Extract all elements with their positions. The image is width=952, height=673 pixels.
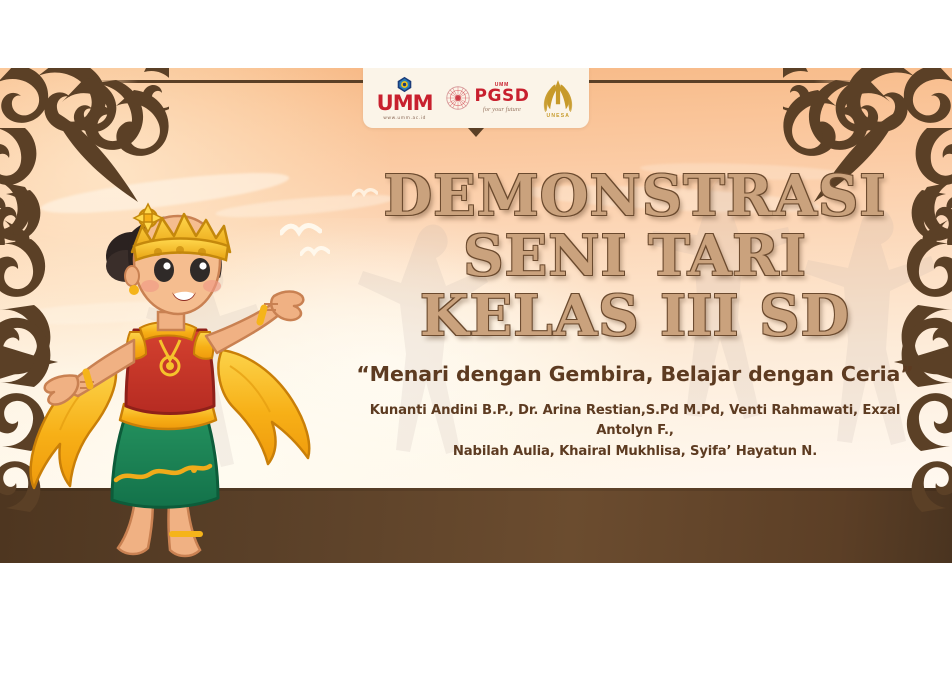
- poster-subtitle: “Menari dengan Gembira, Belajar dengan C…: [355, 362, 915, 386]
- pgsd-tagline: for your future: [483, 106, 521, 113]
- cloud-wisp: [39, 165, 290, 221]
- bird-icon: [280, 220, 322, 240]
- title-line-2: SENI TARI: [355, 228, 915, 284]
- batik-side-scroll-left-icon: [0, 188, 58, 518]
- unesa-wings-icon: [541, 78, 575, 112]
- bird-icon: [300, 244, 330, 259]
- sun-glow: [0, 68, 390, 368]
- hair: [106, 216, 222, 282]
- sash-left: [31, 368, 116, 488]
- poster-root: UMM www.umm.ac.id UMM P: [0, 0, 952, 673]
- umm-shield-icon: [396, 76, 413, 93]
- pgsd-emblem-icon: [445, 85, 471, 111]
- title-line-3-prefix: KELAS: [420, 283, 660, 349]
- arm-right: [206, 292, 303, 354]
- title-roman-numeral: III: [660, 283, 739, 349]
- stage-floor: [0, 488, 952, 563]
- logo-unesa: UNESA: [541, 78, 575, 119]
- logo-plate: UMM www.umm.ac.id UMM P: [363, 68, 589, 128]
- umm-wordmark: UMM: [377, 93, 433, 114]
- arm-left: [45, 340, 134, 405]
- poster-banner: UMM www.umm.ac.id UMM P: [0, 68, 952, 563]
- poster-text-block: DEMONSTRASI SENI TARI KELAS III SD “Mena…: [355, 168, 915, 462]
- waist-sash: [120, 404, 216, 429]
- hair-flower-icon: [134, 204, 162, 232]
- cloud-wisp: [10, 298, 201, 328]
- gold-crown: [132, 204, 230, 260]
- logo-pgsd: UMM PGSD for your future: [445, 83, 530, 113]
- logo-umm: UMM www.umm.ac.id: [377, 76, 433, 121]
- face: [125, 216, 221, 314]
- umm-url: www.umm.ac.id: [383, 116, 426, 121]
- title-line-3-suffix: SD: [739, 283, 851, 349]
- title-line-3: KELAS III SD: [355, 288, 915, 344]
- torso-top: [126, 322, 214, 414]
- pgsd-wordmark: PGSD: [475, 88, 530, 105]
- batik-corner-flourish-top-left-icon: [0, 68, 169, 245]
- unesa-wordmark: UNESA: [547, 113, 571, 119]
- authors-line-2: Nabilah Aulia, Khairal Mukhlisa, Syifa’ …: [355, 442, 915, 462]
- authors-line-1: Kunanti Andini B.P., Dr. Arina Restian,S…: [355, 401, 915, 442]
- poster-authors: Kunanti Andini B.P., Dr. Arina Restian,S…: [355, 401, 915, 462]
- sash-right: [218, 350, 309, 464]
- title-line-1: DEMONSTRASI: [355, 168, 915, 224]
